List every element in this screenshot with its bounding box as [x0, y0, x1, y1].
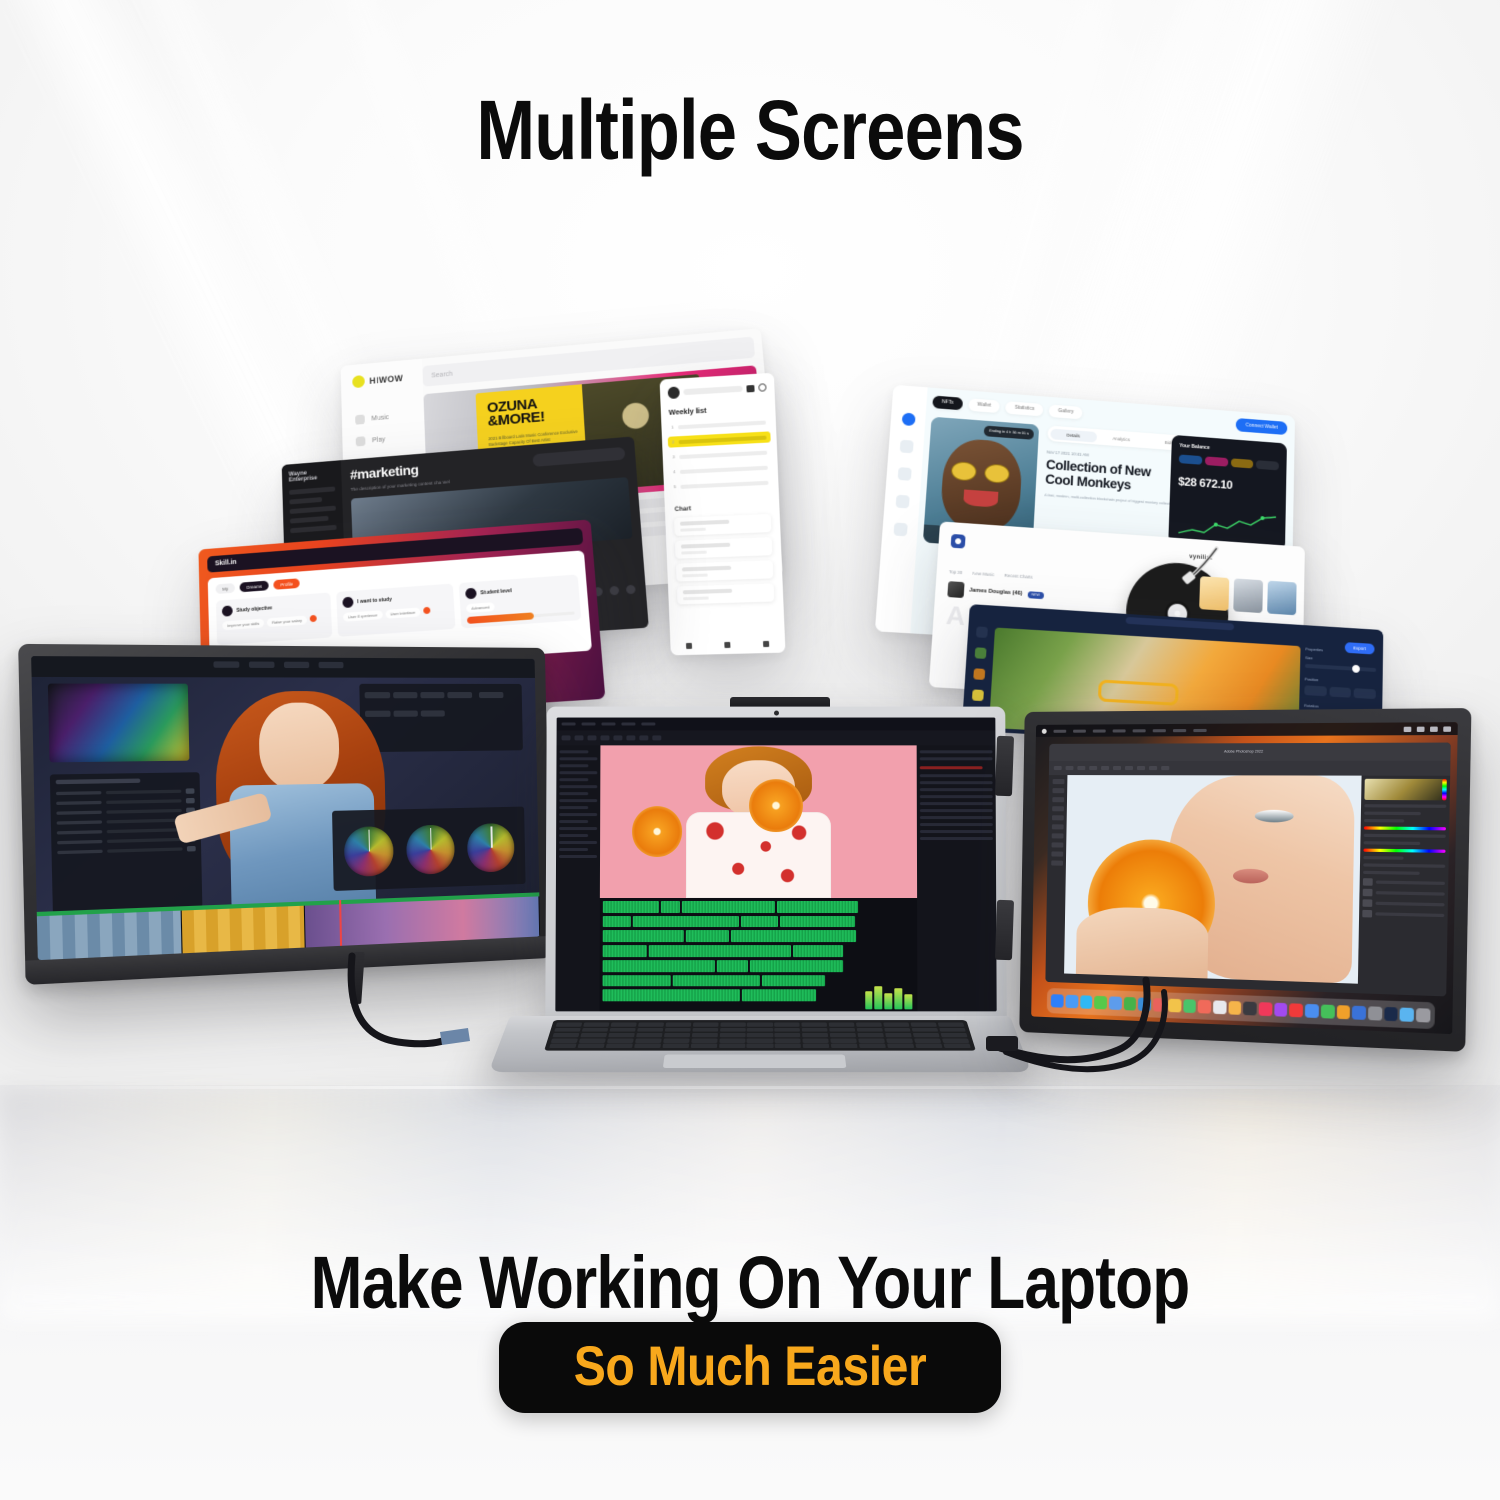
card-want-to-study[interactable]: I want to study User Experience User Int…: [336, 584, 455, 637]
color-wheel-gamma[interactable]: [406, 825, 455, 875]
add-icon[interactable]: [310, 615, 317, 622]
audio-video-editor-app: [555, 718, 996, 1012]
orange-slice-icon: [749, 779, 803, 833]
dock-launchpad-icon[interactable]: [1065, 995, 1078, 1008]
tab-statistics[interactable]: Statistics: [1005, 401, 1043, 416]
dock-reminders-icon[interactable]: [1198, 1000, 1211, 1014]
card-student-level[interactable]: Student level Advanced: [459, 574, 582, 627]
brush-icon[interactable]: [971, 689, 983, 701]
artist-row[interactable]: James Douglas (46) NEW: [947, 581, 1044, 603]
chart-row[interactable]: [676, 560, 774, 581]
layer-row[interactable]: [1362, 899, 1444, 908]
status-badge: So Much Easier: [499, 1322, 1001, 1413]
monitor-shell: [18, 644, 551, 985]
workspace-name: Wayne Enterprise: [289, 468, 335, 483]
badge-container: So Much Easier: [0, 1322, 1500, 1413]
app-toolbar: [557, 731, 996, 746]
nav-item-play[interactable]: Play: [356, 434, 390, 446]
player-controls: [670, 640, 785, 649]
laptop-lid: [545, 707, 1007, 1025]
home-icon[interactable]: [901, 412, 915, 426]
hiwow-logo: HIWOW: [352, 372, 403, 389]
color-picker[interactable]: [1364, 779, 1446, 801]
preview-monitor[interactable]: [600, 745, 917, 898]
list-item[interactable]: 4: [669, 462, 772, 478]
control-center-icon[interactable]: [1443, 726, 1451, 731]
tab-new-music[interactable]: New Music: [972, 571, 994, 577]
audio-track: [603, 930, 914, 942]
book-icon: [342, 597, 353, 608]
balance-widget: Your Balance $28 672.10: [1168, 435, 1287, 551]
color-wheels-panel[interactable]: [333, 806, 526, 891]
monkey-face: [939, 438, 1023, 534]
options-bar: [1049, 760, 1450, 775]
dock-safari-icon[interactable]: [1080, 995, 1093, 1008]
dock-notes-icon[interactable]: [1183, 999, 1196, 1013]
new-badge: NEW: [1027, 591, 1044, 599]
zoom-tool-icon[interactable]: [1051, 860, 1062, 865]
inspector-panel: [50, 772, 202, 914]
dock-settings-icon[interactable]: [1368, 1006, 1382, 1020]
eraser-tool-icon[interactable]: [1052, 824, 1063, 829]
dock-finder-icon[interactable]: [1051, 994, 1064, 1007]
tab-recent-charts[interactable]: Recent Charts: [1004, 573, 1033, 580]
grid-icon[interactable]: [899, 440, 913, 454]
vynilist-logo-icon: [951, 534, 966, 549]
search-input[interactable]: [1126, 617, 1235, 631]
list-item[interactable]: 5: [670, 477, 773, 493]
crop-tool-icon[interactable]: [1052, 806, 1063, 811]
settings-icon[interactable]: [893, 522, 907, 536]
filter-icon[interactable]: [973, 668, 985, 680]
brush-tool-icon[interactable]: [1052, 815, 1063, 820]
app-tabs: [213, 661, 343, 668]
info-icon[interactable]: [626, 585, 636, 595]
level-slider[interactable]: [467, 611, 575, 621]
dock-keynote-icon[interactable]: [1321, 1004, 1335, 1018]
photoshop-canvas[interactable]: [1065, 775, 1362, 983]
letter-index: A: [945, 605, 966, 627]
monitor-screen-left[interactable]: [31, 656, 540, 960]
orange-slice-icon: [632, 806, 683, 857]
balance-heading: Your Balance: [1179, 443, 1279, 456]
photoshop-window: Adobe Photoshop 2022: [1046, 742, 1451, 996]
album-thumb: [947, 581, 964, 598]
list-item[interactable]: 3: [668, 446, 771, 462]
level-icon: [465, 588, 477, 600]
laptop-base: [489, 1016, 1032, 1072]
tab-nfts[interactable]: NFTs: [932, 395, 963, 410]
album-thumb[interactable]: [1267, 581, 1296, 616]
dock-trash-icon[interactable]: [1416, 1008, 1430, 1022]
chart-heading: Chart: [674, 501, 779, 513]
project-panel: [555, 745, 600, 1011]
portable-monitor-right[interactable]: Adobe Photoshop 2022: [1019, 708, 1471, 1052]
pill-profile[interactable]: Profile: [273, 578, 300, 590]
dock-messages-icon[interactable]: [1138, 997, 1151, 1010]
audio-track: [603, 901, 914, 913]
hue-strip[interactable]: [1442, 779, 1447, 800]
dock-preview-icon[interactable]: [1352, 1006, 1366, 1020]
chart-row[interactable]: [677, 583, 775, 604]
tab-wallet[interactable]: Wallet: [968, 398, 1000, 413]
brand-name: HIWOW: [369, 373, 403, 385]
crop-icon[interactable]: [974, 647, 986, 659]
segment-details[interactable]: Details: [1050, 428, 1097, 442]
balance-sparkline: [1176, 507, 1278, 543]
layer-row[interactable]: [1363, 878, 1445, 887]
prop-label-size: Size: [1305, 655, 1379, 664]
brand-name: Skill.in: [215, 559, 237, 567]
music-icon: [355, 414, 365, 424]
dock-podcasts-icon[interactable]: [1228, 1001, 1241, 1015]
album-thumb[interactable]: [1199, 576, 1229, 611]
search-icon[interactable]: [1430, 726, 1438, 731]
auction-countdown: Ending in 4 h 36 m 01 s: [984, 426, 1034, 440]
dock-news-icon[interactable]: [1290, 1003, 1304, 1017]
size-slider[interactable]: [1305, 664, 1376, 672]
wallet-icon[interactable]: [897, 467, 911, 481]
shape-tool-icon[interactable]: [1051, 851, 1062, 856]
panels-column: [1358, 775, 1450, 996]
dock-photos-icon[interactable]: [1168, 999, 1181, 1013]
poster-stage: Multiple Screens HIWOW Music Play Share …: [0, 0, 1500, 1500]
video-grading-app: [31, 656, 540, 960]
avatar: [668, 386, 680, 399]
volume-icon[interactable]: [724, 642, 730, 648]
lasso-tool-icon[interactable]: [1052, 797, 1063, 802]
dock-downloads-icon[interactable]: [1400, 1007, 1414, 1021]
app-menubar: [557, 718, 996, 731]
move-tool-icon[interactable]: [1053, 779, 1064, 784]
stats-icon[interactable]: [895, 495, 909, 509]
dock-facetime-icon[interactable]: [1124, 997, 1137, 1010]
gradient-tool-icon[interactable]: [1052, 833, 1063, 838]
window-title: Adobe Photoshop 2022: [1049, 742, 1450, 760]
chart-row[interactable]: [675, 537, 772, 559]
badge-label: So Much Easier: [574, 1333, 927, 1398]
trackpad[interactable]: [663, 1054, 846, 1068]
connect-wallet-button[interactable]: Connect Wallet: [1236, 418, 1287, 435]
battery-icon[interactable]: [1404, 726, 1412, 731]
target-icon: [222, 605, 233, 616]
monitor-shell: Adobe Photoshop 2022: [1019, 708, 1471, 1052]
tab-top30[interactable]: Top 30: [949, 569, 963, 575]
color-wheel-gain[interactable]: [467, 823, 515, 873]
dock-music-icon[interactable]: [1259, 1002, 1273, 1016]
level-meters: [865, 984, 913, 1009]
dock-appstore-icon[interactable]: [1274, 1003, 1288, 1017]
play-icon: [356, 436, 366, 446]
album-thumb[interactable]: [1233, 578, 1263, 613]
card-weekly-list: Weekly list 1 2 3 4 5 Chart: [660, 373, 786, 656]
portable-monitor-left[interactable]: [18, 644, 551, 985]
photoshop-app: Adobe Photoshop 2022: [1031, 722, 1458, 1034]
balance-amount: $28 672.10: [1178, 475, 1279, 496]
color-wheel-lift[interactable]: [344, 826, 394, 877]
audio-track: [603, 945, 914, 957]
list-item-active[interactable]: 2: [668, 431, 771, 447]
card-study-objective[interactable]: Study objective Improve your skills Rais…: [216, 592, 332, 644]
layer-row[interactable]: [1362, 910, 1444, 919]
subheading: Make Working On Your Laptop: [120, 1240, 1380, 1325]
dock-numbers-icon[interactable]: [1305, 1004, 1319, 1018]
host-laptop[interactable]: [510, 706, 1010, 1098]
vinyl-tabs: Top 30 New Music Recent Charts: [949, 569, 1033, 579]
token-chips: [1179, 454, 1279, 470]
dock-tv-icon[interactable]: [1243, 1001, 1256, 1015]
weekly-heading: Weekly list: [668, 402, 775, 417]
multitrack-timeline[interactable]: [599, 898, 917, 1012]
dock-mail-icon[interactable]: [1094, 996, 1107, 1009]
dock-maps-icon[interactable]: [1153, 998, 1166, 1011]
video-icon[interactable]: [609, 586, 619, 596]
mail-icon[interactable]: [746, 384, 754, 391]
vectorscope-panel: [48, 683, 189, 762]
audio-track: [603, 960, 914, 972]
macos-menubar: [1036, 722, 1458, 737]
list-item[interactable]: 1: [667, 416, 770, 433]
tab-gallery[interactable]: Gallery: [1049, 404, 1083, 419]
dock-calendar-icon[interactable]: [1213, 1000, 1226, 1014]
page-title: Multiple Screens: [120, 82, 1380, 179]
cursor-icon[interactable]: [975, 626, 987, 638]
logo-mark-icon: [352, 375, 365, 388]
layer-row[interactable]: [1363, 888, 1445, 897]
subject-hand: [1076, 906, 1209, 978]
subject-eye: [1255, 810, 1294, 823]
webcam-icon: [774, 711, 779, 716]
sunglasses-icon: [1098, 679, 1179, 705]
monitor-screen-right[interactable]: Adobe Photoshop 2022: [1031, 722, 1458, 1034]
effects-controls-panel: [916, 745, 996, 1011]
chart-row[interactable]: [674, 514, 771, 536]
mount-bracket: [995, 900, 1014, 961]
wifi-icon[interactable]: [1417, 726, 1425, 731]
gradient-bar[interactable]: [1364, 826, 1446, 830]
pill-dreams[interactable]: Dreams: [240, 581, 269, 593]
laptop-screen[interactable]: [555, 718, 996, 1012]
user-name: [683, 386, 742, 395]
mount-bracket: [995, 736, 1014, 797]
segment-analytics[interactable]: Analytics: [1098, 432, 1144, 446]
artist-name: James Douglas (46): [969, 587, 1023, 596]
add-icon[interactable]: [423, 607, 430, 614]
gear-icon[interactable]: [758, 383, 766, 392]
album-thumbnails: [1199, 576, 1296, 615]
nav-item-music[interactable]: Music: [355, 412, 389, 424]
repeat-icon[interactable]: [763, 641, 769, 647]
prop-label-position: Position: [1305, 677, 1379, 686]
audio-track: [603, 916, 914, 928]
text-tool-icon[interactable]: [1052, 842, 1063, 847]
marquee-tool-icon[interactable]: [1053, 788, 1064, 793]
pill-my[interactable]: My: [216, 583, 236, 594]
play-icon[interactable]: [686, 643, 692, 649]
gradient-bar[interactable]: [1363, 848, 1445, 852]
dock-pages-icon[interactable]: [1336, 1005, 1350, 1019]
dock-contacts-icon[interactable]: [1109, 996, 1122, 1009]
keyboard[interactable]: [544, 1020, 976, 1051]
dock-photoshop-icon[interactable]: [1384, 1007, 1398, 1021]
apple-icon[interactable]: [1042, 728, 1047, 733]
